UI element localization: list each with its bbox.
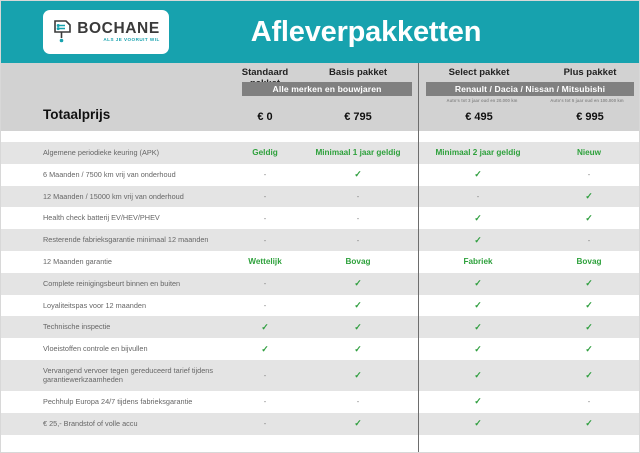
check-icon: ✓	[474, 300, 482, 310]
row-label: Health check batterij EV/HEV/PHEV	[1, 213, 231, 223]
table-cell: -	[538, 170, 640, 179]
dash-icon: -	[264, 301, 267, 310]
check-icon: ✓	[585, 213, 593, 223]
dash-icon: -	[264, 397, 267, 406]
table-cell: -	[231, 419, 299, 428]
table-cell: ✓	[418, 396, 538, 407]
check-icon: ✓	[585, 278, 593, 288]
dash-icon: -	[264, 279, 267, 288]
table-cell: Fabriek	[418, 257, 538, 266]
table-row: Vloeistoffen controle en bijvullen✓✓✓✓	[1, 338, 640, 360]
table-cell: ✓	[299, 300, 417, 311]
row-label: 12 Maanden / 15000 km vrij van onderhoud	[1, 192, 231, 202]
table-cell: ✓	[538, 191, 640, 202]
group-pill-left: Alle merken en bouwjaren	[242, 82, 412, 96]
table-cell: Minimaal 2 jaar geldig	[418, 148, 538, 157]
table-row: Loyaliteitspas voor 12 maanden-✓✓✓	[1, 295, 640, 317]
table-cell: ✓	[538, 370, 640, 381]
table-cell: -	[538, 397, 640, 406]
table-cell: ✓	[299, 418, 417, 429]
table-cell: ✓	[538, 278, 640, 289]
check-icon: ✓	[354, 418, 362, 428]
check-icon: ✓	[354, 169, 362, 179]
check-icon: ✓	[474, 418, 482, 428]
table-cell: -	[299, 192, 417, 201]
check-icon: ✓	[585, 300, 593, 310]
logo-tagline: ALS JE VOORUIT WIL	[103, 39, 159, 44]
price-standaard: € 0	[231, 111, 299, 123]
check-icon: ✓	[474, 169, 482, 179]
check-icon: ✓	[585, 370, 593, 380]
row-label: 6 Maanden / 7500 km vrij van onderhoud	[1, 170, 231, 180]
check-icon: ✓	[474, 213, 482, 223]
table-cell: ✓	[418, 213, 538, 224]
price-basis: € 795	[299, 111, 417, 123]
table-cell: ✓	[538, 418, 640, 429]
table-row: Health check batterij EV/HEV/PHEV--✓✓	[1, 207, 640, 229]
table-row: Pechhulp Europa 24/7 tijdens fabrieksgar…	[1, 391, 640, 413]
cell-text: Wettelijk	[248, 257, 282, 266]
row-label: Vloeistoffen controle en bijvullen	[1, 344, 231, 354]
table-cell: -	[231, 397, 299, 406]
header-body-gap	[1, 131, 640, 142]
table-cell: Wettelijk	[231, 257, 299, 266]
table-cell: Nieuw	[538, 148, 640, 157]
row-label: Resterende fabrieksgarantie minimaal 12 …	[1, 235, 231, 245]
table-row: 6 Maanden / 7500 km vrij van onderhoud-✓…	[1, 164, 640, 186]
table-cell: -	[299, 214, 417, 223]
dash-icon: -	[264, 192, 267, 201]
page-banner: BOCHANE ALS JE VOORUIT WIL Afleverpakket…	[1, 1, 640, 63]
bochane-logo[interactable]: BOCHANE ALS JE VOORUIT WIL	[43, 10, 169, 54]
table-cell: ✓	[418, 300, 538, 311]
table-cell: ✓	[418, 322, 538, 333]
cell-text: Bovag	[345, 257, 370, 266]
table-cell: ✓	[418, 278, 538, 289]
table-row: 12 Maanden / 15000 km vrij van onderhoud…	[1, 186, 640, 208]
row-label: Loyaliteitspas voor 12 maanden	[1, 301, 231, 311]
row-label: Technische inspectie	[1, 322, 231, 332]
row-label: Algemene periodieke keuring (APK)	[1, 148, 231, 158]
table-cell: ✓	[299, 344, 417, 355]
table-cell: ✓	[231, 322, 299, 333]
dash-icon: -	[588, 397, 591, 406]
check-icon: ✓	[474, 396, 482, 406]
table-cell: -	[418, 192, 538, 201]
table-cell: -	[231, 279, 299, 288]
table-cell: -	[231, 214, 299, 223]
table-cell: Bovag	[299, 257, 417, 266]
check-icon: ✓	[354, 370, 362, 380]
dash-icon: -	[588, 170, 591, 179]
row-label: € 25,- Brandstof of volle accu	[1, 419, 231, 429]
dash-icon: -	[357, 214, 360, 223]
table-cell: ✓	[418, 370, 538, 381]
cell-text: Fabriek	[463, 257, 492, 266]
cell-text: Geldig	[252, 148, 277, 157]
table-cell: -	[231, 170, 299, 179]
table-row: Vervangend vervoer tegen gereduceerd tar…	[1, 360, 640, 391]
table-cell: Minimaal 1 jaar geldig	[299, 148, 417, 157]
check-icon: ✓	[474, 344, 482, 354]
check-icon: ✓	[354, 344, 362, 354]
group-pill-right: Renault / Dacia / Nissan / Mitsubishi	[426, 82, 634, 96]
dash-icon: -	[264, 214, 267, 223]
check-icon: ✓	[585, 344, 593, 354]
check-icon: ✓	[585, 418, 593, 428]
cell-text: Minimaal 2 jaar geldig	[435, 148, 520, 157]
afleverpakketten-page: BOCHANE ALS JE VOORUIT WIL Afleverpakket…	[0, 0, 640, 453]
check-icon: ✓	[474, 322, 482, 332]
table-row: Complete reinigingsbeurt binnen en buite…	[1, 273, 640, 295]
price-select: € 495	[419, 111, 539, 123]
cell-text: Minimaal 1 jaar geldig	[315, 148, 400, 157]
column-subtitle-select: Auto's tot 3 jaar oud en 20.000 km	[426, 98, 538, 103]
check-icon: ✓	[474, 370, 482, 380]
table-cell: -	[231, 301, 299, 310]
price-plus: € 995	[539, 111, 640, 123]
row-label: 12 Maanden garantie	[1, 257, 231, 267]
table-cell: ✓	[538, 344, 640, 355]
cell-text: Bovag	[576, 257, 601, 266]
column-subtitle-plus: Auto's tot 5 jaar oud en 100.000 km	[531, 98, 640, 103]
check-icon: ✓	[474, 235, 482, 245]
table-cell: ✓	[418, 344, 538, 355]
totaalprijs-label: Totaalprijs	[43, 107, 110, 122]
dash-icon: -	[357, 192, 360, 201]
table-row: € 25,- Brandstof of volle accu-✓✓✓	[1, 413, 640, 435]
table-cell: Geldig	[231, 148, 299, 157]
table-row: Technische inspectie✓✓✓✓	[1, 316, 640, 338]
dash-icon: -	[477, 192, 480, 201]
row-label: Complete reinigingsbeurt binnen en buite…	[1, 279, 231, 289]
dash-icon: -	[264, 419, 267, 428]
table-row: 12 Maanden garantieWettelijkBovagFabriek…	[1, 251, 640, 273]
table-cell: ✓	[299, 278, 417, 289]
table-cell: -	[299, 397, 417, 406]
logo-wordmark: BOCHANE	[77, 21, 160, 37]
column-header-basis: Basis pakket	[299, 67, 417, 78]
row-label: Vervangend vervoer tegen gereduceerd tar…	[1, 366, 231, 386]
table-cell: -	[299, 236, 417, 245]
table-cell: ✓	[538, 213, 640, 224]
dash-icon: -	[264, 371, 267, 380]
dash-icon: -	[588, 236, 591, 245]
dash-icon: -	[264, 170, 267, 179]
table-row: Algemene periodieke keuring (APK)GeldigM…	[1, 142, 640, 164]
dash-icon: -	[357, 397, 360, 406]
table-cell: Bovag	[538, 257, 640, 266]
table-cell: ✓	[231, 344, 299, 355]
table-cell: ✓	[538, 322, 640, 333]
table-cell: -	[538, 236, 640, 245]
check-icon: ✓	[261, 344, 269, 354]
column-header-select: Select pakket	[419, 67, 539, 78]
check-icon: ✓	[585, 322, 593, 332]
table-cell: ✓	[538, 300, 640, 311]
check-icon: ✓	[474, 278, 482, 288]
dash-icon: -	[357, 236, 360, 245]
table-cell: ✓	[418, 169, 538, 180]
bochane-logo-icon	[52, 19, 72, 45]
dash-icon: -	[264, 236, 267, 245]
check-icon: ✓	[354, 300, 362, 310]
table-cell: ✓	[418, 235, 538, 246]
feature-table: Algemene periodieke keuring (APK)GeldigM…	[1, 142, 640, 435]
table-cell: ✓	[299, 322, 417, 333]
table-cell: ✓	[418, 418, 538, 429]
check-icon: ✓	[354, 322, 362, 332]
cell-text: Nieuw	[577, 148, 601, 157]
table-cell: -	[231, 371, 299, 380]
check-icon: ✓	[354, 278, 362, 288]
table-row: Resterende fabrieksgarantie minimaal 12 …	[1, 229, 640, 251]
table-cell: -	[231, 236, 299, 245]
column-header-plus: Plus pakket	[539, 67, 640, 78]
table-footer	[1, 435, 640, 453]
table-cell: ✓	[299, 370, 417, 381]
check-icon: ✓	[261, 322, 269, 332]
check-icon: ✓	[585, 191, 593, 201]
table-cell: -	[231, 192, 299, 201]
row-label: Pechhulp Europa 24/7 tijdens fabrieksgar…	[1, 397, 231, 407]
table-cell: ✓	[299, 169, 417, 180]
column-group-divider	[418, 63, 419, 453]
